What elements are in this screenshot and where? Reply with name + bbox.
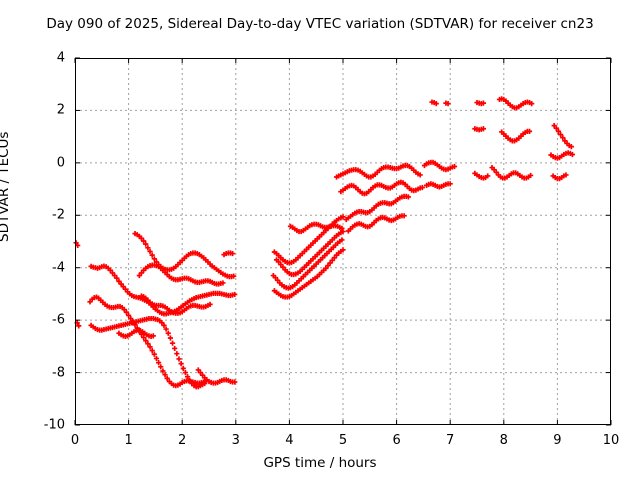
- x-tick-label: 7: [446, 433, 454, 448]
- y-tick-label: -4: [0, 260, 65, 275]
- x-tick-label: 10: [603, 433, 620, 448]
- y-tick-label: -6: [0, 313, 65, 328]
- x-tick-label: 2: [178, 433, 186, 448]
- tick-marks: [75, 58, 611, 425]
- x-axis-title: GPS time / hours: [0, 455, 640, 471]
- y-tick-label: -10: [0, 418, 65, 433]
- y-tick-label: 2: [0, 103, 65, 118]
- x-tick-label: 6: [392, 433, 400, 448]
- y-axis-title: SDTVAR / TECUs: [0, 132, 12, 242]
- x-tick-label: 4: [285, 433, 293, 448]
- y-tick-label: -8: [0, 365, 65, 380]
- x-tick-label: 5: [339, 433, 347, 448]
- x-tick-label: 9: [553, 433, 561, 448]
- chart-page: Day 090 of 2025, Sidereal Day-to-day VTE…: [0, 0, 640, 480]
- x-tick-label: 3: [232, 433, 240, 448]
- y-tick-label: 4: [0, 51, 65, 66]
- x-tick-label: 8: [500, 433, 508, 448]
- x-tick-label: 1: [124, 433, 132, 448]
- x-tick-label: 0: [71, 433, 79, 448]
- plot-area: [75, 58, 611, 425]
- page-title: Day 090 of 2025, Sidereal Day-to-day VTE…: [0, 16, 640, 32]
